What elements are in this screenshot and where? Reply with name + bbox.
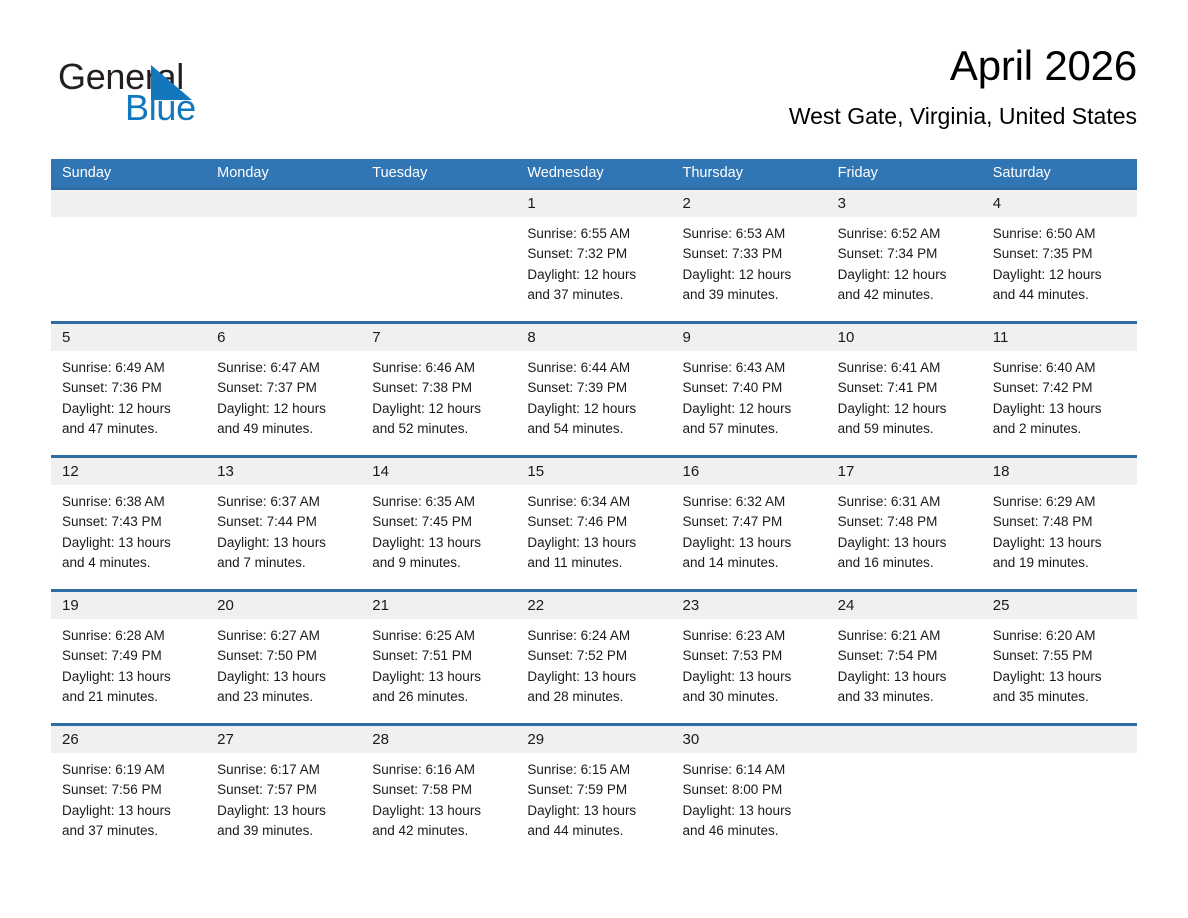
sunset-text: Sunset: 7:44 PM (217, 512, 351, 532)
daylight-text-line2: and 28 minutes. (527, 687, 661, 707)
daylight-text-line1: Daylight: 12 hours (527, 265, 661, 285)
week-row: 12 13 14 15 16 17 18 Sunrise: 6:38 AM Su… (51, 455, 1137, 589)
sunset-text: Sunset: 7:57 PM (217, 780, 351, 800)
daylight-text-line1: Daylight: 12 hours (838, 265, 972, 285)
day-cell[interactable] (51, 217, 206, 321)
weekday-header-thursday: Thursday (672, 159, 827, 187)
daylight-text-line1: Daylight: 12 hours (993, 265, 1127, 285)
sunrise-text: Sunrise: 6:35 AM (372, 492, 506, 512)
day-number[interactable]: 6 (206, 324, 361, 351)
weekday-header-tuesday: Tuesday (361, 159, 516, 187)
sunrise-text: Sunrise: 6:19 AM (62, 760, 196, 780)
sunset-text: Sunset: 7:54 PM (838, 646, 972, 666)
day-cell[interactable]: Sunrise: 6:14 AM Sunset: 8:00 PM Dayligh… (672, 753, 827, 857)
day-cell[interactable]: Sunrise: 6:20 AM Sunset: 7:55 PM Dayligh… (982, 619, 1137, 723)
sunrise-text: Sunrise: 6:23 AM (683, 626, 817, 646)
day-cell[interactable]: Sunrise: 6:25 AM Sunset: 7:51 PM Dayligh… (361, 619, 516, 723)
sunrise-text: Sunrise: 6:34 AM (527, 492, 661, 512)
daylight-text-line2: and 4 minutes. (62, 553, 196, 573)
day-cell[interactable]: Sunrise: 6:29 AM Sunset: 7:48 PM Dayligh… (982, 485, 1137, 589)
daylight-text-line2: and 42 minutes. (372, 821, 506, 841)
sunset-text: Sunset: 7:45 PM (372, 512, 506, 532)
day-number[interactable]: 23 (672, 592, 827, 619)
sunset-text: Sunset: 7:38 PM (372, 378, 506, 398)
daylight-text-line1: Daylight: 13 hours (372, 533, 506, 553)
sunrise-text: Sunrise: 6:46 AM (372, 358, 506, 378)
sunset-text: Sunset: 7:51 PM (372, 646, 506, 666)
day-cell[interactable]: Sunrise: 6:19 AM Sunset: 7:56 PM Dayligh… (51, 753, 206, 857)
page-title: April 2026 (789, 40, 1137, 92)
day-number[interactable]: 11 (982, 324, 1137, 351)
day-number[interactable]: 28 (361, 726, 516, 753)
day-cell[interactable]: Sunrise: 6:32 AM Sunset: 7:47 PM Dayligh… (672, 485, 827, 589)
daylight-text-line1: Daylight: 13 hours (993, 533, 1127, 553)
daylight-text-line1: Daylight: 13 hours (217, 533, 351, 553)
sunset-text: Sunset: 7:47 PM (683, 512, 817, 532)
daylight-text-line2: and 44 minutes. (993, 285, 1127, 305)
sunrise-text: Sunrise: 6:14 AM (683, 760, 817, 780)
sunset-text: Sunset: 7:34 PM (838, 244, 972, 264)
day-number[interactable]: 1 (516, 190, 671, 217)
daylight-text-line1: Daylight: 12 hours (217, 399, 351, 419)
sunset-text: Sunset: 7:36 PM (62, 378, 196, 398)
day-cell[interactable] (361, 217, 516, 321)
week-row: 5 6 7 8 9 10 11 Sunrise: 6:49 AM Sunset:… (51, 321, 1137, 455)
daylight-text-line1: Daylight: 13 hours (372, 667, 506, 687)
sunset-text: Sunset: 7:55 PM (993, 646, 1127, 666)
daylight-text-line2: and 42 minutes. (838, 285, 972, 305)
daylight-text-line1: Daylight: 13 hours (527, 801, 661, 821)
sunrise-text: Sunrise: 6:49 AM (62, 358, 196, 378)
sunset-text: Sunset: 7:43 PM (62, 512, 196, 532)
day-cell[interactable]: Sunrise: 6:28 AM Sunset: 7:49 PM Dayligh… (51, 619, 206, 723)
day-cell[interactable]: Sunrise: 6:50 AM Sunset: 7:35 PM Dayligh… (982, 217, 1137, 321)
weekday-header-friday: Friday (827, 159, 982, 187)
day-cell[interactable]: Sunrise: 6:38 AM Sunset: 7:43 PM Dayligh… (51, 485, 206, 589)
daylight-text-line1: Daylight: 13 hours (62, 533, 196, 553)
day-cell[interactable]: Sunrise: 6:41 AM Sunset: 7:41 PM Dayligh… (827, 351, 982, 455)
sunrise-text: Sunrise: 6:29 AM (993, 492, 1127, 512)
daylight-text-line2: and 21 minutes. (62, 687, 196, 707)
sunrise-text: Sunrise: 6:24 AM (527, 626, 661, 646)
sunrise-text: Sunrise: 6:55 AM (527, 224, 661, 244)
week-detail-band: Sunrise: 6:19 AM Sunset: 7:56 PM Dayligh… (51, 753, 1137, 857)
day-number[interactable]: 12 (51, 458, 206, 485)
sunset-text: Sunset: 7:50 PM (217, 646, 351, 666)
week-date-band: 5 6 7 8 9 10 11 (51, 324, 1137, 351)
daylight-text-line2: and 47 minutes. (62, 419, 196, 439)
daylight-text-line2: and 57 minutes. (683, 419, 817, 439)
sunset-text: Sunset: 7:37 PM (217, 378, 351, 398)
day-number[interactable]: 13 (206, 458, 361, 485)
sunrise-text: Sunrise: 6:44 AM (527, 358, 661, 378)
day-number[interactable]: 10 (827, 324, 982, 351)
sunset-text: Sunset: 7:48 PM (993, 512, 1127, 532)
daylight-text-line1: Daylight: 12 hours (683, 399, 817, 419)
day-cell[interactable] (206, 217, 361, 321)
day-cell[interactable] (982, 753, 1137, 857)
day-number[interactable]: 19 (51, 592, 206, 619)
sunrise-text: Sunrise: 6:41 AM (838, 358, 972, 378)
day-number[interactable]: 15 (516, 458, 671, 485)
day-number[interactable]: 20 (206, 592, 361, 619)
daylight-text-line2: and 39 minutes. (683, 285, 817, 305)
sunset-text: Sunset: 7:32 PM (527, 244, 661, 264)
day-cell[interactable]: Sunrise: 6:52 AM Sunset: 7:34 PM Dayligh… (827, 217, 982, 321)
week-detail-band: Sunrise: 6:38 AM Sunset: 7:43 PM Dayligh… (51, 485, 1137, 589)
sunrise-text: Sunrise: 6:38 AM (62, 492, 196, 512)
day-number[interactable]: 4 (982, 190, 1137, 217)
day-number[interactable]: 22 (516, 592, 671, 619)
daylight-text-line2: and 54 minutes. (527, 419, 661, 439)
day-cell[interactable]: Sunrise: 6:23 AM Sunset: 7:53 PM Dayligh… (672, 619, 827, 723)
weekday-header-row: Sunday Monday Tuesday Wednesday Thursday… (51, 159, 1137, 187)
day-number[interactable] (827, 726, 982, 753)
sunset-text: Sunset: 7:52 PM (527, 646, 661, 666)
calendar-grid: Sunday Monday Tuesday Wednesday Thursday… (51, 159, 1137, 857)
daylight-text-line1: Daylight: 12 hours (683, 265, 817, 285)
sunrise-text: Sunrise: 6:27 AM (217, 626, 351, 646)
sunset-text: Sunset: 7:58 PM (372, 780, 506, 800)
day-number[interactable]: 30 (672, 726, 827, 753)
sunrise-text: Sunrise: 6:47 AM (217, 358, 351, 378)
day-number[interactable]: 27 (206, 726, 361, 753)
daylight-text-line1: Daylight: 13 hours (993, 667, 1127, 687)
sunrise-text: Sunrise: 6:53 AM (683, 224, 817, 244)
sunrise-text: Sunrise: 6:52 AM (838, 224, 972, 244)
weekday-header-saturday: Saturday (982, 159, 1137, 187)
day-cell[interactable]: Sunrise: 6:31 AM Sunset: 7:48 PM Dayligh… (827, 485, 982, 589)
day-number[interactable]: 7 (361, 324, 516, 351)
sunrise-text: Sunrise: 6:15 AM (527, 760, 661, 780)
sunrise-text: Sunrise: 6:28 AM (62, 626, 196, 646)
daylight-text-line1: Daylight: 13 hours (62, 667, 196, 687)
day-cell[interactable]: Sunrise: 6:46 AM Sunset: 7:38 PM Dayligh… (361, 351, 516, 455)
day-number[interactable]: 26 (51, 726, 206, 753)
day-number[interactable] (206, 190, 361, 217)
daylight-text-line2: and 11 minutes. (527, 553, 661, 573)
week-row: 19 20 21 22 23 24 25 Sunrise: 6:28 AM Su… (51, 589, 1137, 723)
day-number[interactable]: 29 (516, 726, 671, 753)
sunrise-text: Sunrise: 6:40 AM (993, 358, 1127, 378)
sunset-text: Sunset: 7:42 PM (993, 378, 1127, 398)
day-cell[interactable]: Sunrise: 6:53 AM Sunset: 7:33 PM Dayligh… (672, 217, 827, 321)
daylight-text-line2: and 14 minutes. (683, 553, 817, 573)
daylight-text-line1: Daylight: 13 hours (217, 801, 351, 821)
sunrise-text: Sunrise: 6:31 AM (838, 492, 972, 512)
daylight-text-line2: and 37 minutes. (527, 285, 661, 305)
sunset-text: Sunset: 7:49 PM (62, 646, 196, 666)
day-number[interactable] (982, 726, 1137, 753)
sunset-text: Sunset: 8:00 PM (683, 780, 817, 800)
sunset-text: Sunset: 7:59 PM (527, 780, 661, 800)
daylight-text-line2: and 59 minutes. (838, 419, 972, 439)
page-subtitle: West Gate, Virginia, United States (789, 102, 1137, 130)
day-number[interactable]: 24 (827, 592, 982, 619)
day-number[interactable]: 2 (672, 190, 827, 217)
day-number[interactable]: 16 (672, 458, 827, 485)
daylight-text-line1: Daylight: 13 hours (683, 533, 817, 553)
brand-name-blue: Blue (125, 89, 196, 127)
day-cell[interactable]: Sunrise: 6:35 AM Sunset: 7:45 PM Dayligh… (361, 485, 516, 589)
day-number[interactable]: 9 (672, 324, 827, 351)
week-row: 26 27 28 29 30 Sunrise: 6:19 AM Sunset: … (51, 723, 1137, 857)
daylight-text-line2: and 49 minutes. (217, 419, 351, 439)
daylight-text-line2: and 46 minutes. (683, 821, 817, 841)
daylight-text-line2: and 9 minutes. (372, 553, 506, 573)
day-number[interactable]: 8 (516, 324, 671, 351)
sunrise-text: Sunrise: 6:20 AM (993, 626, 1127, 646)
day-cell[interactable]: Sunrise: 6:24 AM Sunset: 7:52 PM Dayligh… (516, 619, 671, 723)
day-cell[interactable]: Sunrise: 6:49 AM Sunset: 7:36 PM Dayligh… (51, 351, 206, 455)
day-number[interactable]: 25 (982, 592, 1137, 619)
sunset-text: Sunset: 7:35 PM (993, 244, 1127, 264)
day-cell[interactable]: Sunrise: 6:43 AM Sunset: 7:40 PM Dayligh… (672, 351, 827, 455)
day-number[interactable]: 18 (982, 458, 1137, 485)
weekday-header-monday: Monday (206, 159, 361, 187)
day-cell[interactable]: Sunrise: 6:44 AM Sunset: 7:39 PM Dayligh… (516, 351, 671, 455)
day-number[interactable]: 21 (361, 592, 516, 619)
week-detail-band: Sunrise: 6:28 AM Sunset: 7:49 PM Dayligh… (51, 619, 1137, 723)
daylight-text-line2: and 39 minutes. (217, 821, 351, 841)
sunrise-text: Sunrise: 6:17 AM (217, 760, 351, 780)
daylight-text-line2: and 35 minutes. (993, 687, 1127, 707)
sunrise-text: Sunrise: 6:25 AM (372, 626, 506, 646)
week-row: 1 2 3 4 (51, 187, 1137, 321)
sunrise-text: Sunrise: 6:21 AM (838, 626, 972, 646)
sunrise-text: Sunrise: 6:37 AM (217, 492, 351, 512)
daylight-text-line1: Daylight: 13 hours (527, 667, 661, 687)
day-number[interactable]: 17 (827, 458, 982, 485)
daylight-text-line2: and 33 minutes. (838, 687, 972, 707)
day-number[interactable] (51, 190, 206, 217)
daylight-text-line2: and 26 minutes. (372, 687, 506, 707)
daylight-text-line1: Daylight: 12 hours (527, 399, 661, 419)
daylight-text-line1: Daylight: 13 hours (217, 667, 351, 687)
day-cell[interactable]: Sunrise: 6:55 AM Sunset: 7:32 PM Dayligh… (516, 217, 671, 321)
calendar-page: General Blue April 2026 West Gate, Virgi… (0, 0, 1188, 918)
day-number[interactable]: 5 (51, 324, 206, 351)
daylight-text-line1: Daylight: 12 hours (62, 399, 196, 419)
daylight-text-line2: and 16 minutes. (838, 553, 972, 573)
daylight-text-line1: Daylight: 13 hours (527, 533, 661, 553)
week-detail-band: Sunrise: 6:49 AM Sunset: 7:36 PM Dayligh… (51, 351, 1137, 455)
day-cell[interactable] (827, 753, 982, 857)
sunset-text: Sunset: 7:33 PM (683, 244, 817, 264)
daylight-text-line1: Daylight: 13 hours (372, 801, 506, 821)
daylight-text-line1: Daylight: 13 hours (993, 399, 1127, 419)
day-cell[interactable]: Sunrise: 6:37 AM Sunset: 7:44 PM Dayligh… (206, 485, 361, 589)
sunset-text: Sunset: 7:40 PM (683, 378, 817, 398)
daylight-text-line1: Daylight: 13 hours (62, 801, 196, 821)
weekday-header-wednesday: Wednesday (516, 159, 671, 187)
daylight-text-line2: and 19 minutes. (993, 553, 1127, 573)
day-cell[interactable]: Sunrise: 6:34 AM Sunset: 7:46 PM Dayligh… (516, 485, 671, 589)
daylight-text-line2: and 44 minutes. (527, 821, 661, 841)
sunset-text: Sunset: 7:56 PM (62, 780, 196, 800)
sunrise-text: Sunrise: 6:32 AM (683, 492, 817, 512)
daylight-text-line2: and 7 minutes. (217, 553, 351, 573)
daylight-text-line2: and 30 minutes. (683, 687, 817, 707)
daylight-text-line1: Daylight: 13 hours (683, 667, 817, 687)
daylight-text-line1: Daylight: 13 hours (838, 533, 972, 553)
day-cell[interactable]: Sunrise: 6:15 AM Sunset: 7:59 PM Dayligh… (516, 753, 671, 857)
daylight-text-line1: Daylight: 13 hours (683, 801, 817, 821)
daylight-text-line2: and 23 minutes. (217, 687, 351, 707)
week-date-band: 26 27 28 29 30 (51, 726, 1137, 753)
daylight-text-line2: and 37 minutes. (62, 821, 196, 841)
day-cell[interactable]: Sunrise: 6:16 AM Sunset: 7:58 PM Dayligh… (361, 753, 516, 857)
day-cell[interactable]: Sunrise: 6:27 AM Sunset: 7:50 PM Dayligh… (206, 619, 361, 723)
weekday-header-sunday: Sunday (51, 159, 206, 187)
daylight-text-line1: Daylight: 12 hours (838, 399, 972, 419)
sunset-text: Sunset: 7:41 PM (838, 378, 972, 398)
sunrise-text: Sunrise: 6:16 AM (372, 760, 506, 780)
day-cell[interactable]: Sunrise: 6:40 AM Sunset: 7:42 PM Dayligh… (982, 351, 1137, 455)
sunset-text: Sunset: 7:39 PM (527, 378, 661, 398)
day-cell[interactable]: Sunrise: 6:47 AM Sunset: 7:37 PM Dayligh… (206, 351, 361, 455)
day-number[interactable] (361, 190, 516, 217)
page-header: General Blue April 2026 West Gate, Virgi… (51, 40, 1137, 148)
daylight-text-line1: Daylight: 13 hours (838, 667, 972, 687)
day-number[interactable]: 3 (827, 190, 982, 217)
daylight-text-line2: and 2 minutes. (993, 419, 1127, 439)
sunrise-text: Sunrise: 6:50 AM (993, 224, 1127, 244)
week-detail-band: Sunrise: 6:55 AM Sunset: 7:32 PM Dayligh… (51, 217, 1137, 321)
week-date-band: 1 2 3 4 (51, 190, 1137, 217)
day-cell[interactable]: Sunrise: 6:21 AM Sunset: 7:54 PM Dayligh… (827, 619, 982, 723)
sunset-text: Sunset: 7:53 PM (683, 646, 817, 666)
title-block: April 2026 West Gate, Virginia, United S… (789, 40, 1137, 130)
sunset-text: Sunset: 7:46 PM (527, 512, 661, 532)
general-blue-logo[interactable]: General Blue (51, 48, 311, 128)
sunset-text: Sunset: 7:48 PM (838, 512, 972, 532)
day-cell[interactable]: Sunrise: 6:17 AM Sunset: 7:57 PM Dayligh… (206, 753, 361, 857)
daylight-text-line1: Daylight: 12 hours (372, 399, 506, 419)
week-date-band: 19 20 21 22 23 24 25 (51, 592, 1137, 619)
daylight-text-line2: and 52 minutes. (372, 419, 506, 439)
sunrise-text: Sunrise: 6:43 AM (683, 358, 817, 378)
day-number[interactable]: 14 (361, 458, 516, 485)
week-date-band: 12 13 14 15 16 17 18 (51, 458, 1137, 485)
